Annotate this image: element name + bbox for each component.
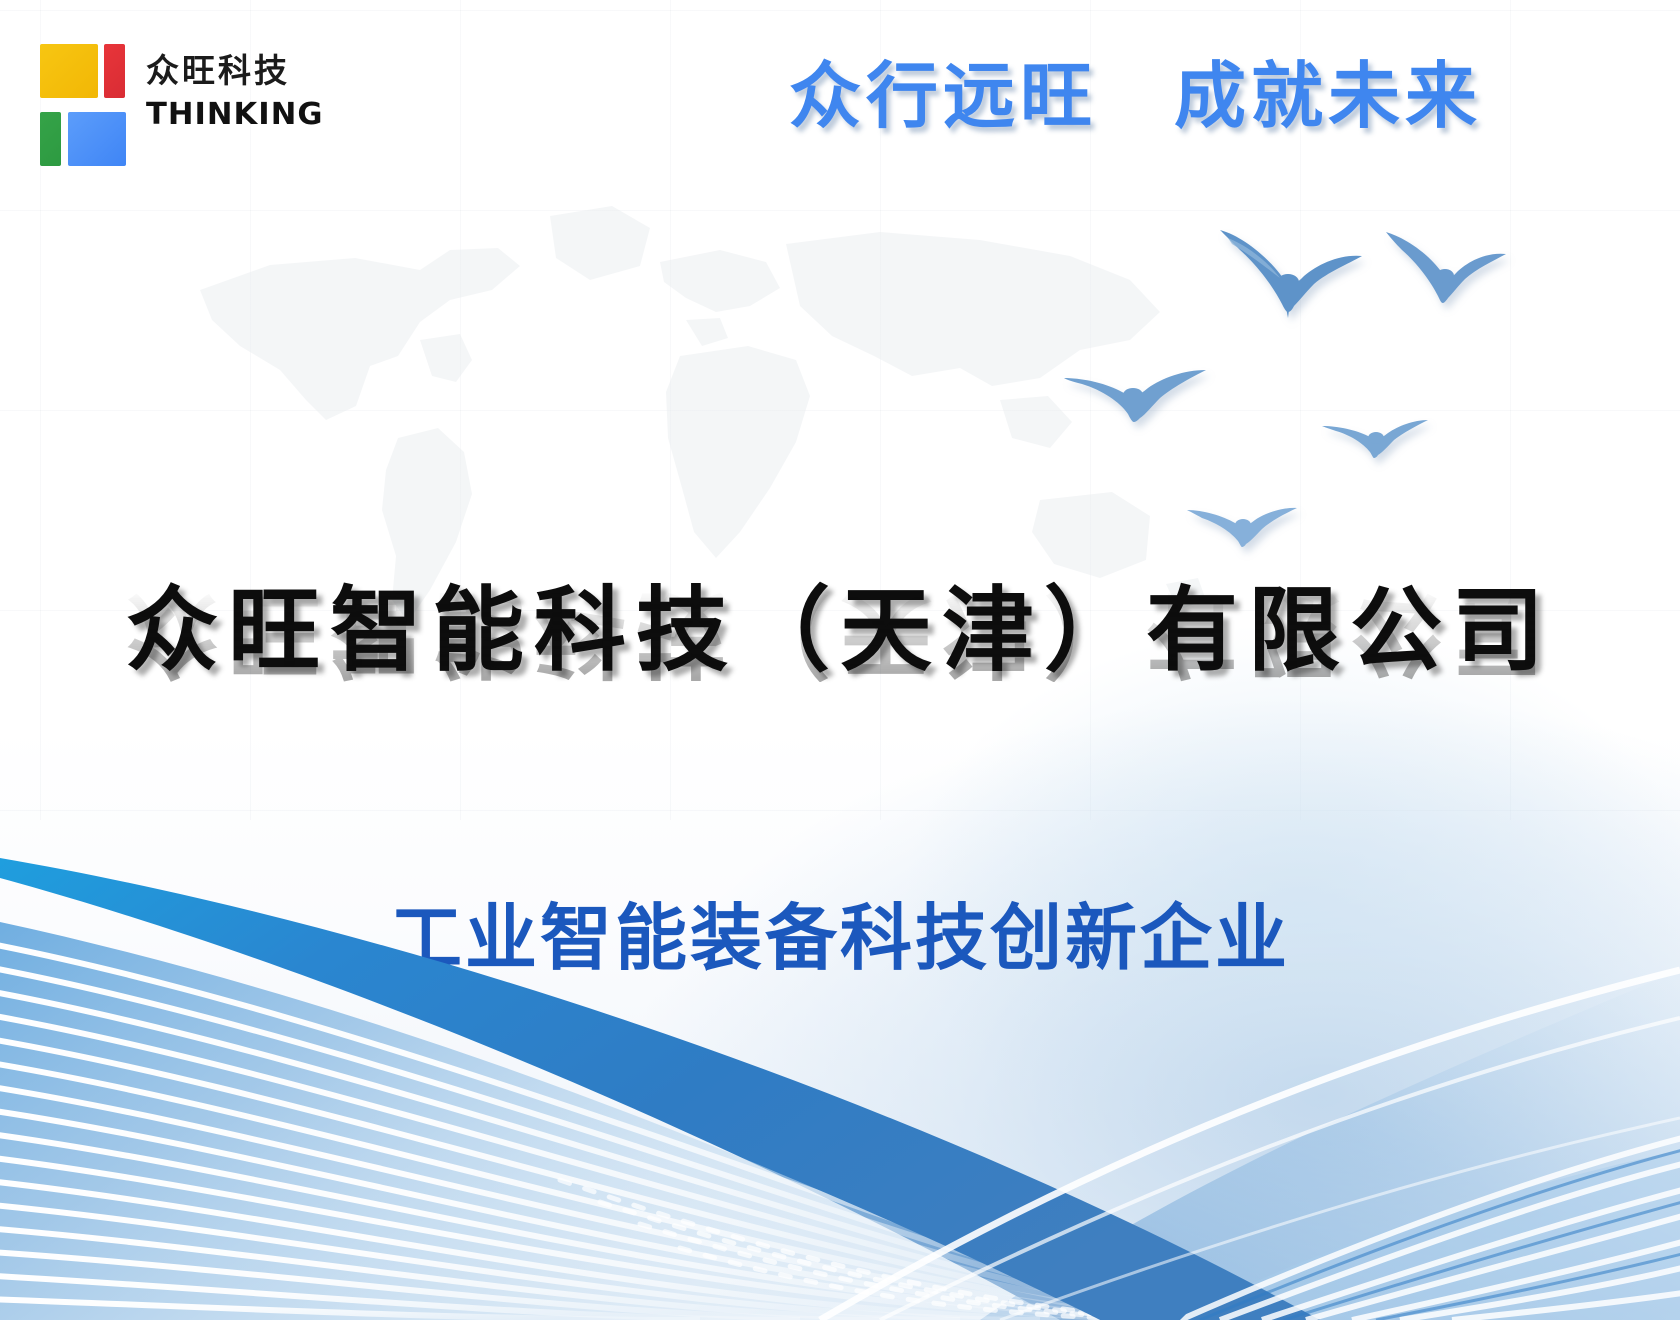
seagull-icon bbox=[1185, 500, 1299, 556]
logo-yellow-block bbox=[40, 44, 98, 98]
seagull-icon bbox=[1208, 222, 1374, 332]
seagull-icon bbox=[1380, 226, 1510, 316]
seagull-icon bbox=[1320, 414, 1430, 468]
header-tagline: 众行远旺 成就未来 bbox=[789, 60, 1482, 132]
presentation-slide: 众旺科技 THINKING 众行远旺 成就未来 众旺智能科技（天津）有限公司 众… bbox=[0, 0, 1680, 1320]
main-title-group: 众旺智能科技（天津）有限公司 众旺智能科技（天津）有限公司 bbox=[0, 582, 1680, 779]
company-logo: 众旺科技 THINKING bbox=[0, 0, 320, 186]
wave-ribbon-decoration bbox=[0, 850, 1680, 1320]
logo-red-block bbox=[104, 44, 125, 98]
logo-green-block bbox=[40, 112, 61, 166]
seagull-icon bbox=[1060, 360, 1210, 436]
logo-blue-block bbox=[68, 112, 126, 166]
page-title-reflection: 众旺智能科技（天津）有限公司 bbox=[0, 584, 1680, 682]
logo-wordmark: 众旺科技 THINKING bbox=[146, 54, 316, 130]
logo-company-name-en: THINKING bbox=[146, 100, 319, 130]
logo-company-name-cn: 众旺科技 bbox=[146, 54, 316, 87]
